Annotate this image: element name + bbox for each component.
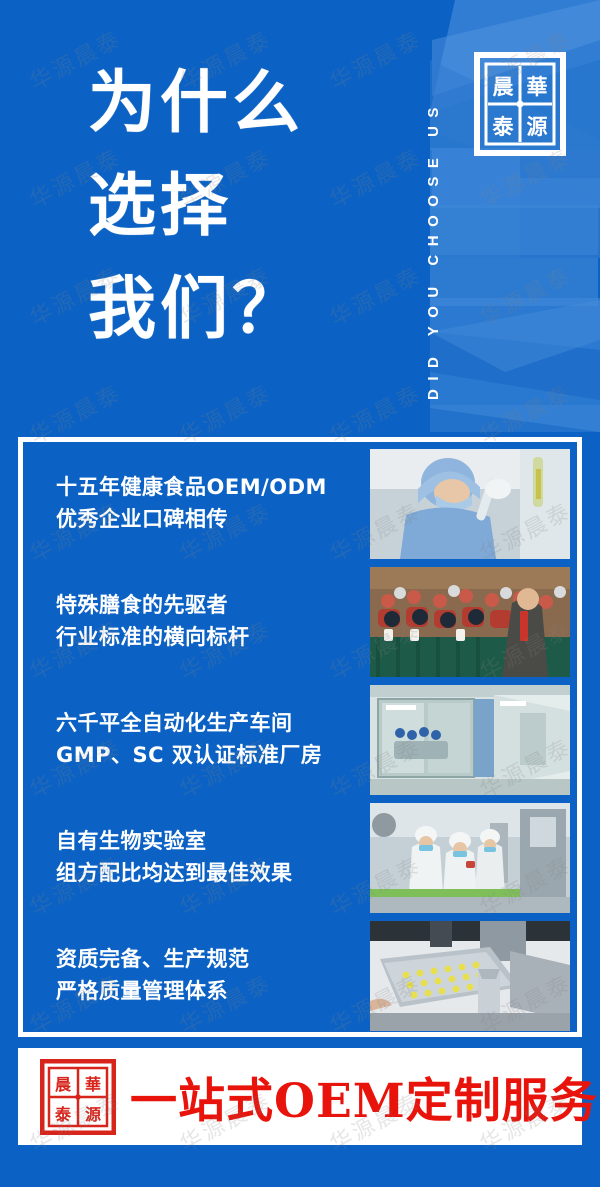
svg-text:華: 華 (85, 1075, 101, 1094)
watermark-text: 华源晨泰 (131, 1152, 319, 1187)
svg-text:源: 源 (85, 1105, 101, 1124)
feature-image-packaging-line-workers (370, 803, 570, 913)
feature-image-cleanroom-corridor (370, 685, 570, 795)
feature-line-1: 特殊膳食的先驱者 (56, 593, 366, 619)
watermark-text: 华源晨泰 (281, 1152, 469, 1187)
feature-image-lab-technician (370, 449, 570, 559)
feature-line-1: 自有生物实验室 (56, 829, 366, 855)
cta-text: 一站式OEM定制服务 (130, 1062, 598, 1131)
feature-card[interactable]: 特殊膳食的先驱者 行业标准的横向标杆 (30, 567, 570, 677)
feature-image-conference-audience (370, 567, 570, 677)
svg-text:源: 源 (527, 114, 548, 139)
svg-text:晨: 晨 (55, 1075, 72, 1094)
title-line-1: 为什么 (88, 52, 304, 155)
feature-line-2: 优秀企业口碑相传 (56, 507, 366, 533)
feature-card-text: 六千平全自动化生产车间 GMP、SC 双认证标准厂房 (30, 685, 366, 795)
company-seal-red-icon: 晨 華 泰 源 (40, 1059, 116, 1135)
page-title: 为什么 选择 我们？ (88, 52, 304, 361)
bottom-cta-banner[interactable]: 晨 華 泰 源 一站式OEM定制服务 (18, 1048, 582, 1145)
watermark-text: 华源晨泰 (0, 1152, 169, 1187)
feature-card-text: 自有生物实验室 组方配比均达到最佳效果 (30, 803, 366, 913)
feature-card-text: 十五年健康食品OEM/ODM 优秀企业口碑相传 (30, 449, 366, 559)
svg-text:華: 華 (527, 74, 548, 99)
feature-card-list: 十五年健康食品OEM/ODM 优秀企业口碑相传 (30, 449, 570, 1025)
feature-line-1: 资质完备、生产规范 (56, 947, 366, 973)
title-line-2: 选择 (88, 155, 304, 258)
feature-card[interactable]: 六千平全自动化生产车间 GMP、SC 双认证标准厂房 (30, 685, 570, 795)
feature-line-2: 行业标准的横向标杆 (56, 625, 366, 651)
feature-line-2: 严格质量管理体系 (56, 979, 366, 1005)
hero-section: 为什么 选择 我们？ DID YOU CHOOSE US 晨 華 泰 源 (0, 0, 600, 432)
feature-line-2: GMP、SC 双认证标准厂房 (56, 743, 366, 769)
vertical-english-tagline: DID YOU CHOOSE US (405, 18, 427, 400)
feature-line-1: 六千平全自动化生产车间 (56, 711, 366, 737)
feature-line-1: 十五年健康食品OEM/ODM (56, 475, 366, 501)
company-seal-white-icon: 晨 華 泰 源 (474, 52, 566, 156)
feature-image-blister-packaging-machine (370, 921, 570, 1031)
svg-text:泰: 泰 (54, 1105, 72, 1124)
vertical-english-text: DID YOU CHOOSE US (425, 99, 442, 400)
feature-card-text: 资质完备、生产规范 严格质量管理体系 (30, 921, 366, 1031)
promo-poster: 为什么 选择 我们？ DID YOU CHOOSE US 晨 華 泰 源 (0, 0, 600, 1187)
svg-text:晨: 晨 (493, 74, 515, 99)
watermark-text: 华源晨泰 (431, 1152, 600, 1187)
feature-line-2: 组方配比均达到最佳效果 (56, 861, 366, 887)
feature-card[interactable]: 资质完备、生产规范 严格质量管理体系 (30, 921, 570, 1031)
title-line-3: 我们？ (88, 258, 304, 361)
feature-card[interactable]: 自有生物实验室 组方配比均达到最佳效果 (30, 803, 570, 913)
feature-card-text: 特殊膳食的先驱者 行业标准的横向标杆 (30, 567, 366, 677)
feature-card[interactable]: 十五年健康食品OEM/ODM 优秀企业口碑相传 (30, 449, 570, 559)
svg-text:泰: 泰 (492, 114, 515, 139)
